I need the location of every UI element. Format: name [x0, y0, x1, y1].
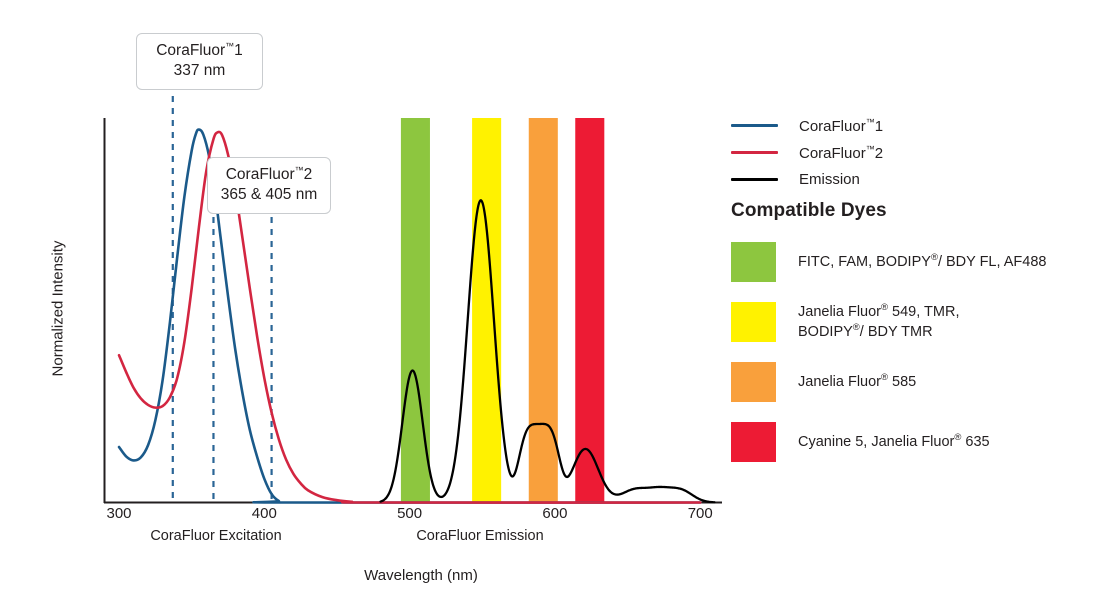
callout-cf1-title: CoraFluor™1 [149, 41, 250, 61]
dye-label-3: Cyanine 5, Janelia Fluor® 635 [798, 432, 990, 452]
legend-line-swatch-1 [731, 151, 778, 154]
dye-row-3: Cyanine 5, Janelia Fluor® 635 [731, 412, 1091, 472]
callout-corafluor-1: CoraFluor™1 337 nm [136, 33, 263, 90]
x-tick-600: 600 [525, 505, 585, 522]
series-legend: CoraFluor™1CoraFluor™2Emission [731, 112, 1071, 193]
spectra-figure: CoraFluor™1 337 nm CoraFluor™2 365 & 405… [0, 0, 1110, 612]
compatible-dyes-list: FITC, FAM, BODIPY®/ BDY FL, AF488Janelia… [731, 232, 1091, 472]
dye-color-swatch-2 [731, 362, 776, 402]
callout-cf2-title: CoraFluor™2 [220, 165, 318, 185]
dye-color-swatch-0 [731, 242, 776, 282]
x-axis-title: Wavelength (nm) [319, 567, 523, 584]
legend-line-swatch-2 [731, 178, 778, 181]
x-tick-300: 300 [89, 505, 149, 522]
x-axis-sublabel-emission: CoraFluor Emission [360, 528, 600, 544]
legend-row-0: CoraFluor™1 [731, 112, 1071, 139]
dye-row-0: FITC, FAM, BODIPY®/ BDY FL, AF488 [731, 232, 1091, 292]
x-axis-sublabel-excitation: CoraFluor Excitation [96, 528, 336, 544]
y-axis-title: Normalized Intensity [50, 219, 67, 399]
dye-band-group [401, 118, 604, 503]
callout-cf2-value: 365 & 405 nm [220, 185, 318, 205]
dye-label-2: Janelia Fluor® 585 [798, 372, 916, 392]
x-tick-400: 400 [234, 505, 294, 522]
x-tick-700: 700 [670, 505, 730, 522]
dye-row-1: Janelia Fluor® 549, TMR,BODIPY®/ BDY TMR [731, 292, 1091, 352]
dye-label-0: FITC, FAM, BODIPY®/ BDY FL, AF488 [798, 252, 1046, 272]
legend-label-2: Emission [799, 171, 860, 188]
legend-label-1: CoraFluor™2 [799, 144, 883, 162]
dye-label-1: Janelia Fluor® 549, TMR,BODIPY®/ BDY TMR [798, 302, 959, 342]
dye-color-swatch-1 [731, 302, 776, 342]
callout-cf1-value: 337 nm [149, 61, 250, 81]
legend-row-2: Emission [731, 166, 1071, 193]
x-tick-500: 500 [380, 505, 440, 522]
legend-row-1: CoraFluor™2 [731, 139, 1071, 166]
dye-band-2 [529, 118, 558, 503]
legend-line-swatch-0 [731, 124, 778, 127]
dye-band-1 [472, 118, 501, 503]
callout-corafluor-2: CoraFluor™2 365 & 405 nm [207, 157, 331, 214]
dye-row-2: Janelia Fluor® 585 [731, 352, 1091, 412]
dye-color-swatch-3 [731, 422, 776, 462]
dye-band-3 [575, 118, 604, 503]
legend-label-0: CoraFluor™1 [799, 117, 883, 135]
compatible-dyes-title: Compatible Dyes [731, 200, 887, 222]
